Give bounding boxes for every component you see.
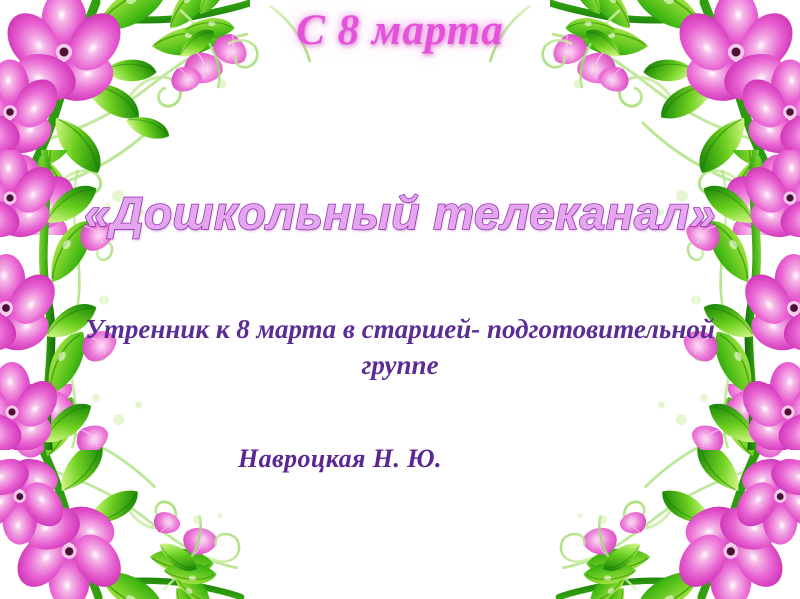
- slide-title: «Дошкольный телеканал»: [0, 186, 800, 240]
- author-name: Навроцкая Н. Ю.: [0, 444, 800, 474]
- corner-decoration-bottom-right: [550, 384, 800, 599]
- slide-subtitle: Утренник к 8 марта в старшей- подготовит…: [60, 312, 740, 383]
- presentation-slide: С 8 марта «Дошкольный телеканал» Утренни…: [0, 0, 800, 599]
- floral-border-frame: [0, 0, 800, 599]
- edge-decoration-bottom-left-accent: [150, 509, 300, 599]
- edge-decoration-bottom-right-accent: [500, 509, 650, 599]
- corner-decoration-bottom-left: [0, 384, 250, 599]
- holiday-heading: С 8 марта: [0, 6, 800, 55]
